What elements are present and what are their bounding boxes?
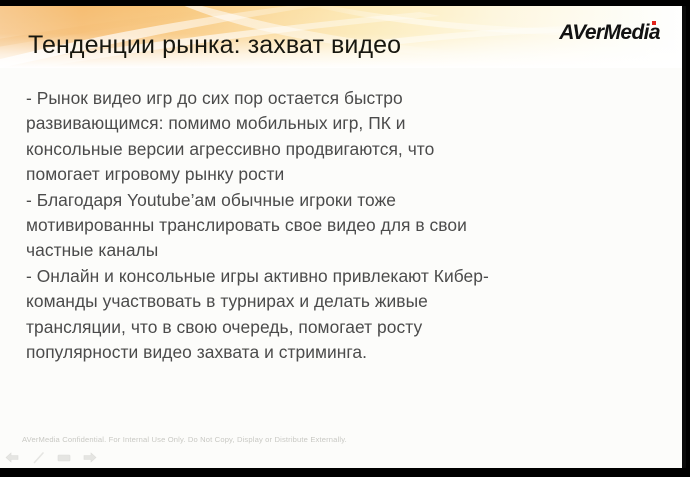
logo-red-dot-icon	[652, 21, 656, 25]
body-line: развивающимся: помимо мобильных игр, ПК …	[26, 111, 670, 136]
presenter-controls	[4, 451, 98, 464]
body-line: помогает игровому рынку рости	[26, 162, 670, 187]
body-line: - Благодаря Youtube’ам обычные игроки то…	[26, 188, 670, 213]
logo-text: AVerMedia	[559, 21, 660, 44]
presentation-slide: Тенденции рынка: захват видео AVerMedia …	[0, 6, 686, 468]
letterbox-bottom-bar	[0, 468, 690, 477]
arrow-left-icon	[5, 452, 19, 463]
confidentiality-footer: AVerMedia Confidential. For Internal Use…	[22, 435, 347, 444]
pen-tool-button[interactable]	[30, 451, 46, 464]
slideshow-viewer: Тенденции рынка: захват видео AVerMedia …	[0, 0, 690, 477]
body-line: - Онлайн и консольные игры активно привл…	[26, 264, 670, 289]
slide-menu-button[interactable]	[56, 451, 72, 464]
pen-icon	[32, 452, 45, 464]
body-line: трансляции, что в свою очередь, помогает…	[26, 315, 670, 340]
rectangle-menu-icon	[57, 453, 71, 463]
body-line: команды участвовать в турнирах и делать …	[26, 289, 670, 314]
body-line: консольные версии агрессивно продвигаютс…	[26, 137, 670, 162]
next-slide-button[interactable]	[82, 451, 98, 464]
page-title: Тенденции рынка: захват видео	[28, 33, 401, 58]
previous-slide-button[interactable]	[4, 451, 20, 464]
body-line: - Рынок видео игр до сих пор остается бы…	[26, 86, 670, 111]
slide-body-text: - Рынок видео игр до сих пор остается бы…	[26, 86, 670, 365]
body-line: мотивированны транслировать свое видео д…	[26, 213, 670, 238]
arrow-right-icon	[83, 452, 97, 463]
body-line: популярности видео захвата и стриминга.	[26, 340, 670, 365]
avermedia-logo: AVerMedia	[559, 22, 660, 43]
body-line: частные каналы	[26, 238, 670, 263]
